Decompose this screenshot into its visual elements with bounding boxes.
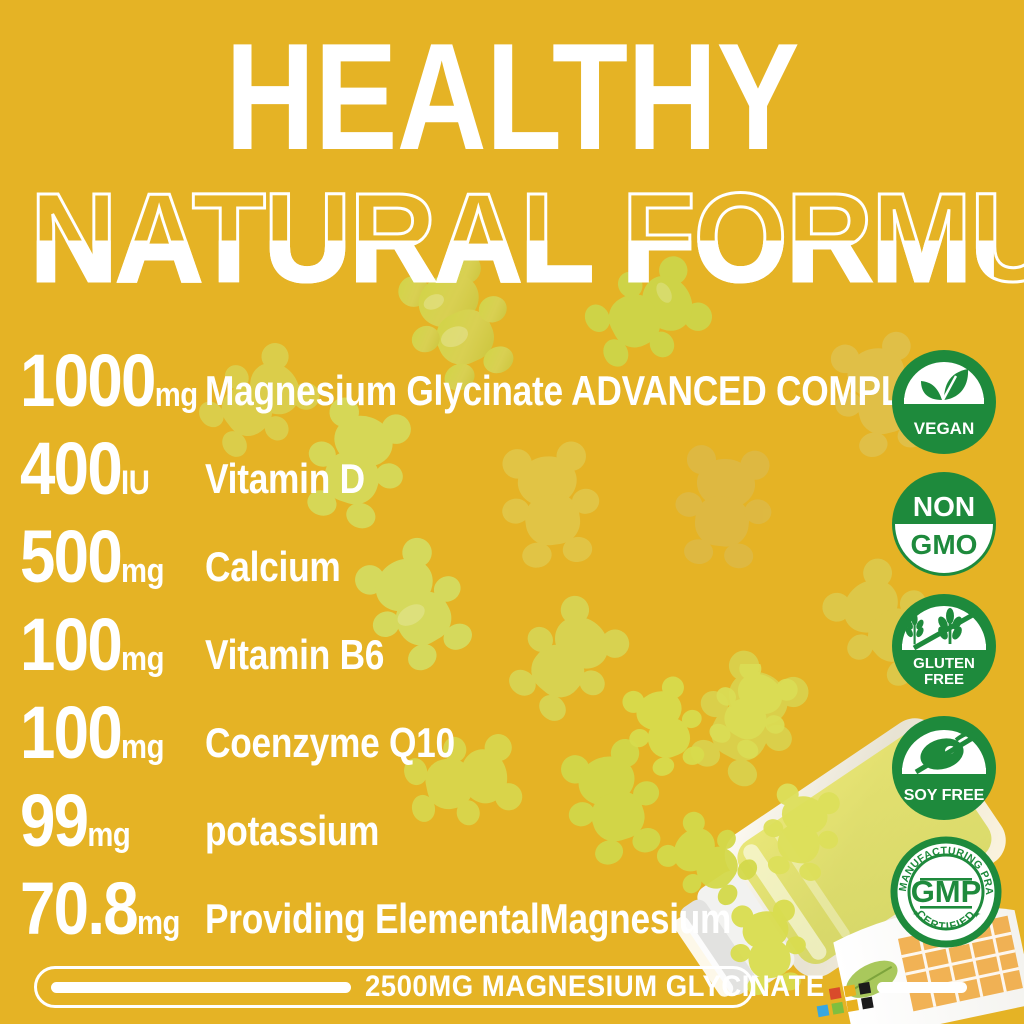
badge-vegan: VEGAN	[890, 348, 998, 456]
amount-value: 70.8	[20, 867, 137, 950]
amount-unit: mg	[121, 552, 164, 590]
badge-gmo-label: GMO	[911, 529, 978, 560]
badge-gmp: GOOD MANUFACTURING PRACITCE CERTIFIED GM…	[890, 836, 1002, 948]
banner-dash-right	[877, 982, 967, 993]
product-infographic: HEALTHY NATURAL FORMULA NATURAL FORMULA …	[0, 0, 1024, 1024]
ingredient-amount: 100mg	[20, 608, 164, 682]
svg-text:✦: ✦	[972, 909, 981, 921]
ingredient-name: Vitamin D	[205, 458, 365, 500]
badge-gluten-label: GLUTEN	[913, 655, 975, 672]
ingredient-amount: 1000mg	[20, 344, 198, 418]
page-title: HEALTHY	[92, 24, 932, 170]
ingredient-amount: 500mg	[20, 520, 164, 594]
badge-non-gmo: NON GMO	[890, 470, 998, 578]
amount-unit: mg	[121, 640, 164, 678]
ingredient-name: Providing ElementalMagnesium	[205, 898, 731, 940]
page-subtitle: NATURAL FORMULA NATURAL FORMULA	[10, 175, 1014, 303]
amount-value: 100	[20, 691, 121, 774]
amount-value: 500	[20, 515, 121, 598]
banner-dash-left	[51, 982, 351, 993]
amount-value: 99	[20, 779, 87, 862]
ingredient-name: Coenzyme Q10	[205, 722, 455, 764]
badge-gluten-free: GLUTEN FREE	[890, 592, 998, 700]
amount-unit: IU	[121, 464, 149, 502]
badge-soy-free-label: SOY FREE	[904, 787, 985, 804]
banner-text: 2500MG MAGNESIUM GLYCINATE	[365, 972, 825, 1002]
ingredient-name: Vitamin B6	[205, 634, 384, 676]
amount-unit: mg	[121, 728, 164, 766]
badge-non-label: NON	[913, 491, 975, 522]
ingredient-amount: 400IU	[20, 432, 149, 506]
amount-value: 100	[20, 603, 121, 686]
ingredient-row: 400IU Vitamin D	[0, 418, 880, 506]
ingredient-name: potassium	[205, 810, 379, 852]
svg-text:✦: ✦	[912, 909, 921, 921]
ingredient-name: Calcium	[205, 546, 340, 588]
ingredient-amount: 99mg	[20, 784, 130, 858]
ingredient-amount: 70.8mg	[20, 872, 180, 946]
amount-value: 1000	[20, 339, 155, 422]
amount-value: 400	[20, 427, 121, 510]
ingredient-name: Magnesium Glycinate ADVANCED COMPLEX	[205, 370, 949, 412]
ingredient-row: 100mg Coenzyme Q10	[0, 682, 880, 770]
bottom-banner: 2500MG MAGNESIUM GLYCINATE	[34, 966, 754, 1008]
ingredient-amount: 100mg	[20, 696, 164, 770]
amount-unit: mg	[87, 816, 130, 854]
ingredient-list: 1000mg Magnesium Glycinate ADVANCED COMP…	[0, 330, 880, 946]
certification-badges: VEGAN NON GMO	[890, 348, 1002, 962]
ingredient-row: 1000mg Magnesium Glycinate ADVANCED COMP…	[0, 330, 880, 418]
badge-free-label: FREE	[924, 671, 964, 688]
amount-unit: mg	[155, 376, 198, 414]
amount-unit: mg	[137, 904, 180, 942]
ingredient-row: 100mg Vitamin B6	[0, 594, 880, 682]
ingredient-row: 70.8mg Providing ElementalMagnesium	[0, 858, 880, 946]
ingredient-row: 500mg Calcium	[0, 506, 880, 594]
badge-soy-free: SOY FREE	[890, 714, 998, 822]
badge-vegan-label: VEGAN	[914, 419, 974, 438]
ingredient-row: 99mg potassium	[0, 770, 880, 858]
